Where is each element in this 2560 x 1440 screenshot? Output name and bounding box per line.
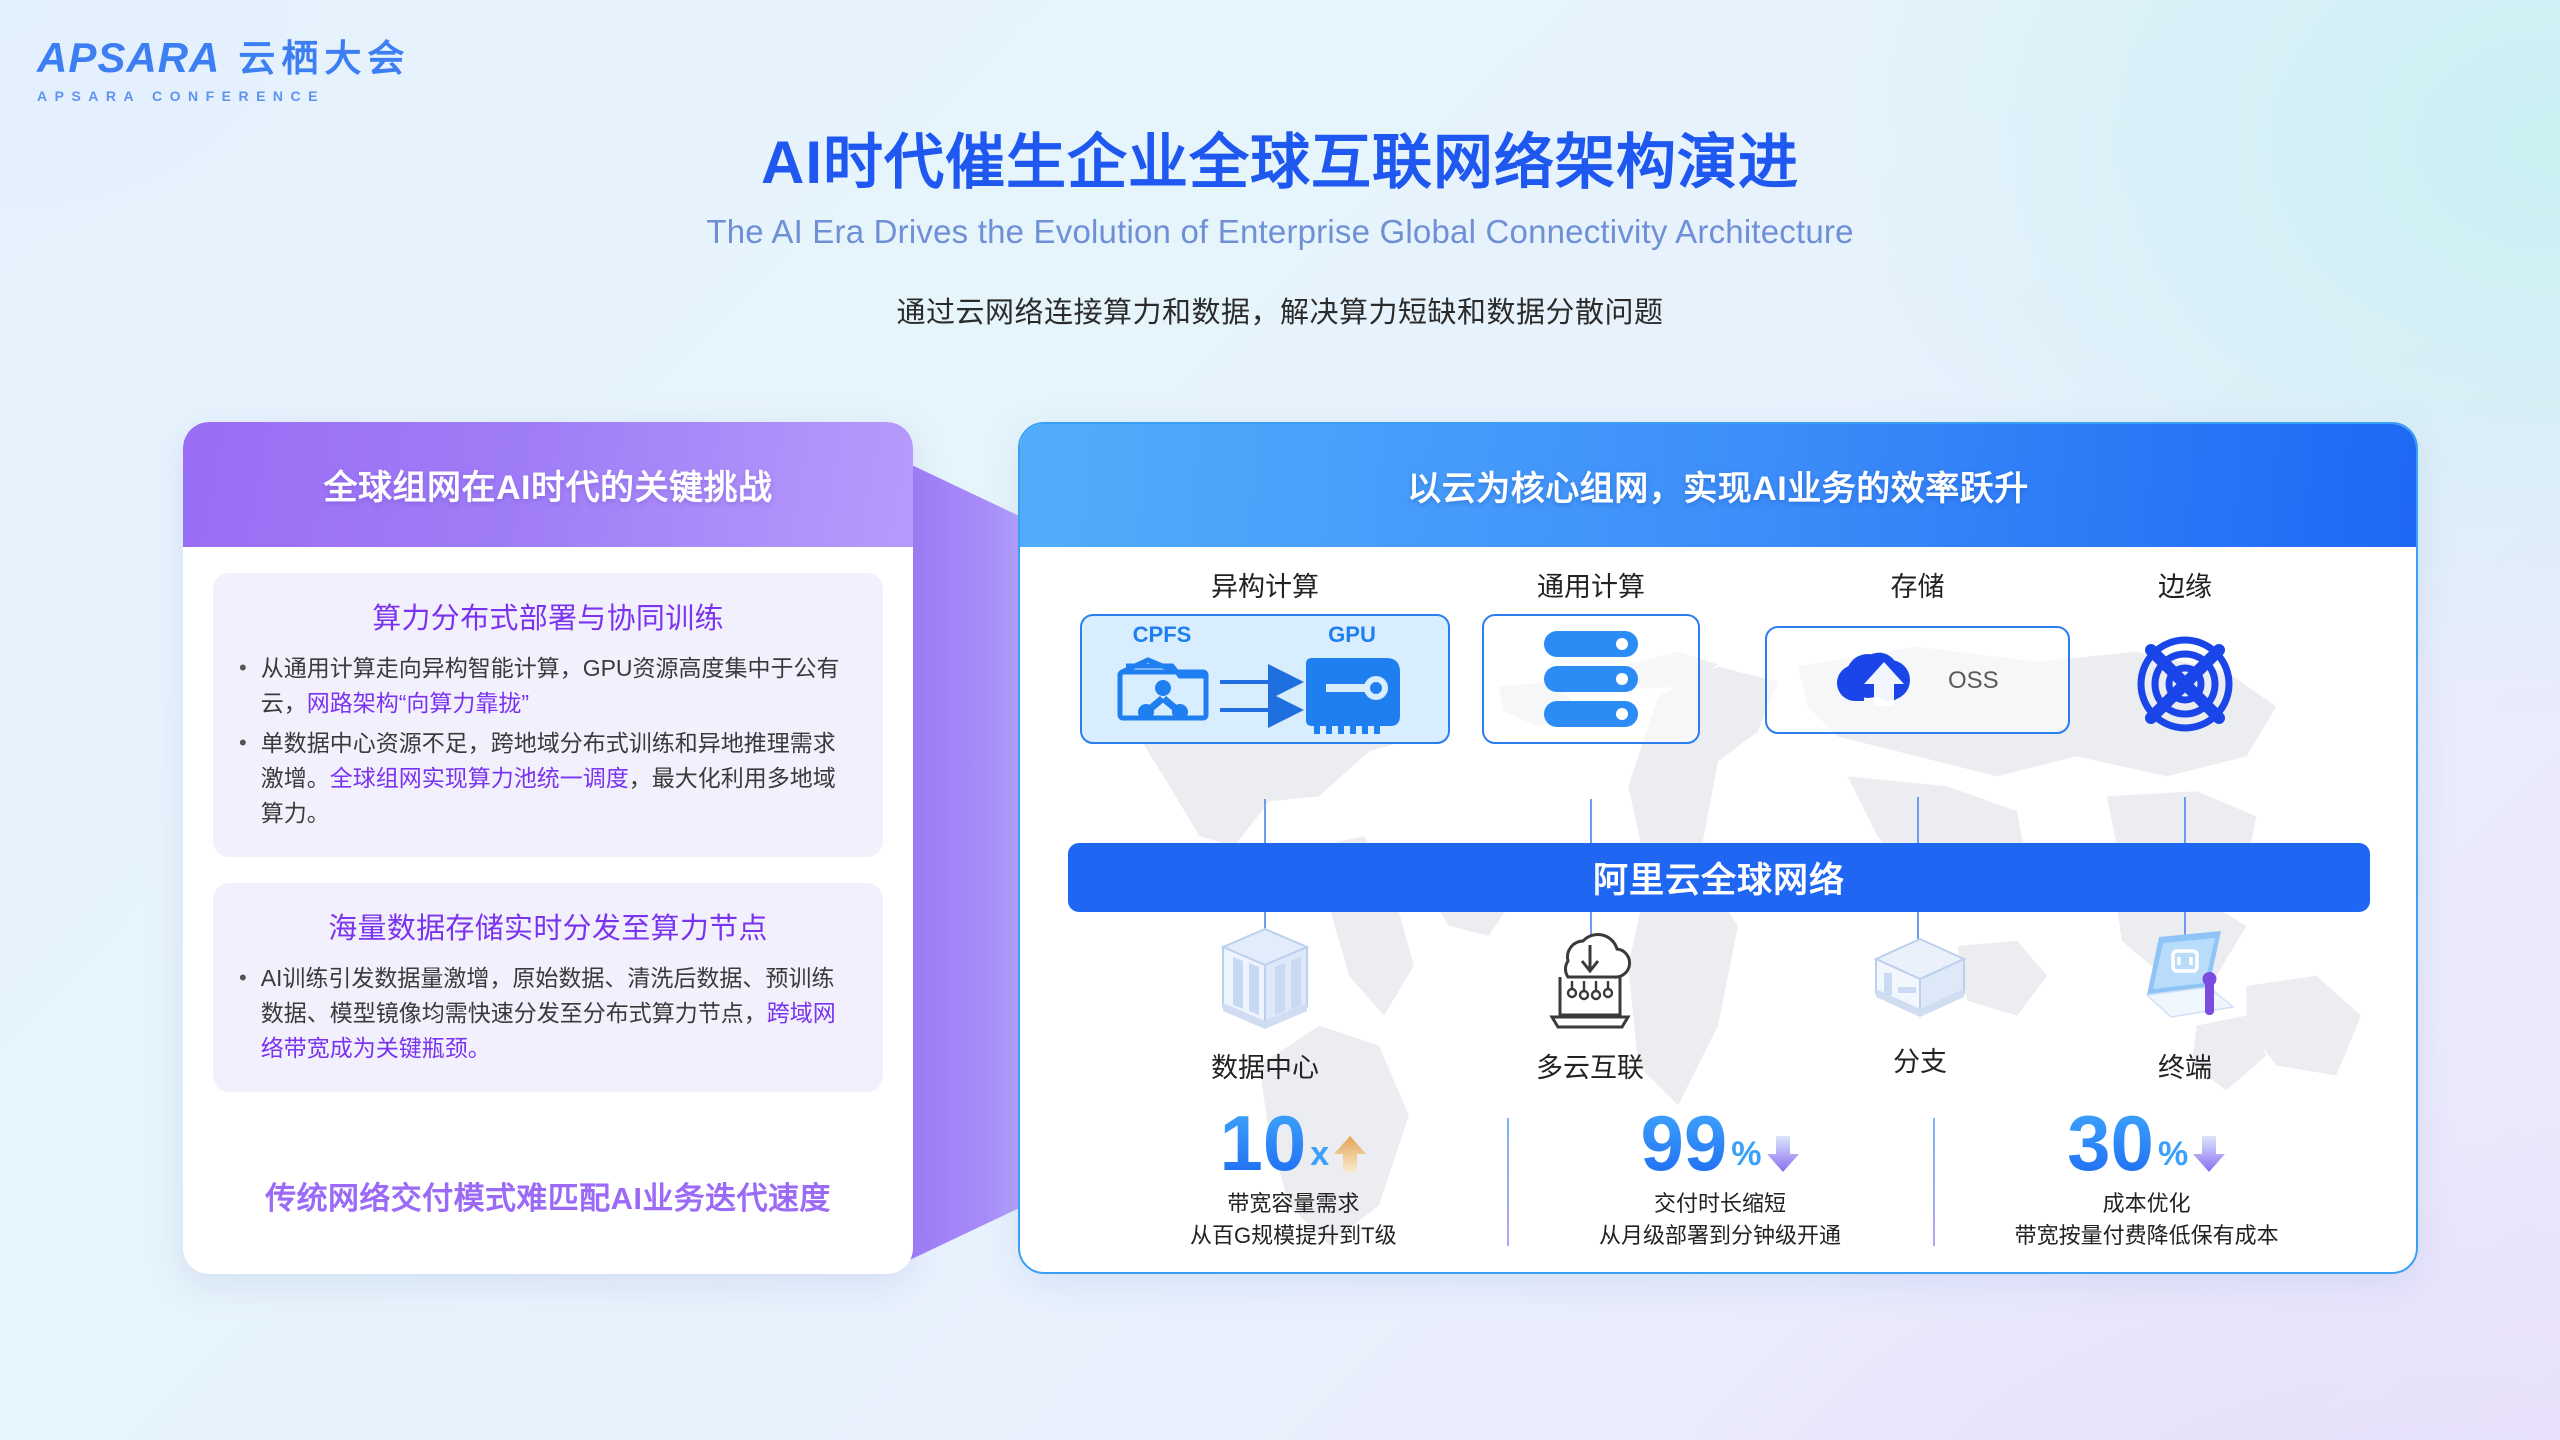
global-network-hub: 阿里云全球网络: [1068, 843, 2370, 912]
challenge-card-title: 海量数据存储实时分发至算力节点: [239, 905, 857, 947]
multicloud-icon: [1538, 925, 1642, 1035]
node-heterogeneous-compute: 异构计算 CPFS GPU: [1080, 565, 1450, 744]
solution-panel-title: 以云为核心组网，实现AI业务的效率跃升: [1407, 461, 2029, 510]
node-caption: 异构计算: [1080, 565, 1450, 604]
logo-brand-cn: 云栖大会: [238, 28, 410, 82]
node-general-compute: 通用计算: [1482, 565, 1700, 744]
hub-label: 阿里云全球网络: [1593, 852, 1845, 903]
page-subtitle: The AI Era Drives the Evolution of Enter…: [0, 213, 2560, 251]
node-storage: 存储 OSS: [1765, 565, 2070, 734]
stat-line1: 交付时长缩短: [1507, 1186, 1934, 1218]
stat-line1: 带宽容量需求: [1080, 1186, 1507, 1218]
edge-node-icon: [2129, 628, 2241, 740]
bullet-dot: •: [239, 961, 247, 1066]
datacenter-icon: [1217, 925, 1313, 1035]
svg-text:CPFS: CPFS: [1133, 622, 1192, 647]
challenges-panel-title: 全球组网在AI时代的关键挑战: [324, 460, 773, 509]
cpfs-gpu-icon: CPFS GPU: [1100, 620, 1430, 738]
stat-unit: x: [1310, 1135, 1329, 1180]
solution-panel: 以云为核心组网，实现AI业务的效率跃升: [1018, 422, 2418, 1274]
arrow-down-icon: [1766, 1134, 1800, 1174]
node-branch: 分支: [1820, 933, 2020, 1079]
node-caption: 多云互联: [1490, 1046, 1690, 1085]
challenges-panel: 全球组网在AI时代的关键挑战 算力分布式部署与协同训练 • 从通用计算走向异构智…: [183, 422, 913, 1274]
node-multicloud: 多云互联: [1490, 925, 1690, 1085]
arrow-up-icon: [1333, 1134, 1367, 1174]
stat-number: 10: [1219, 1108, 1306, 1180]
node-caption: 分支: [1820, 1040, 2020, 1079]
node-caption: 边缘: [2110, 565, 2260, 604]
stat-line2: 从月级部署到分钟级开通: [1507, 1218, 1934, 1250]
bullet-dot: •: [239, 651, 247, 721]
architecture-diagram: 异构计算 CPFS GPU: [1020, 547, 2416, 1274]
terminal-laptop-icon: [2129, 925, 2241, 1035]
logo-subtitle: APSARA CONFERENCE: [37, 88, 467, 104]
svg-text:OSS: OSS: [1948, 667, 1999, 694]
page-title: AI时代催生企业全球互联网络架构演进: [0, 128, 2560, 199]
branch-office-icon: [1868, 933, 1972, 1029]
stat-line1: 成本优化: [1933, 1186, 2360, 1218]
bullet-text: AI训练引发数据量激增，原始数据、清洗后数据、预训练数据、模型镜像均需快速分发至…: [261, 961, 857, 1066]
node-caption: 通用计算: [1482, 565, 1700, 604]
challenges-panel-header: 全球组网在AI时代的关键挑战: [183, 422, 913, 547]
challenge-bullet: • 从通用计算走向异构智能计算，GPU资源高度集中于公有云，网路架构“向算力靠拢…: [239, 651, 857, 721]
server-stack-icon: [1536, 627, 1646, 731]
bullet-text: 单数据中心资源不足，跨地域分布式训练和异地推理需求激增。全球组网实现算力池统一调…: [261, 726, 857, 831]
solution-panel-header: 以云为核心组网，实现AI业务的效率跃升: [1020, 424, 2416, 547]
logo-brand-en: APSARA: [37, 34, 220, 82]
bullet-dot: •: [239, 726, 247, 831]
oss-box: OSS: [1765, 626, 2070, 734]
stat-line2: 从百G规模提升到T级: [1080, 1218, 1507, 1250]
cpfs-gpu-box: CPFS GPU: [1080, 614, 1450, 744]
challenges-panel-footer: 传统网络交付模式难匹配AI业务迭代速度: [183, 1173, 913, 1218]
stat-item: 10 x 带宽容量需求 从百G规模提升到T级: [1080, 1108, 1507, 1258]
stat-number: 99: [1641, 1108, 1728, 1180]
node-caption: 数据中心: [1165, 1046, 1365, 1085]
slide-header: AI时代催生企业全球互联网络架构演进 The AI Era Drives the…: [0, 128, 2560, 331]
stat-item: 30 % 成本优化 带宽按量付费降低保有成本: [1933, 1108, 2360, 1258]
stat-unit: %: [1731, 1135, 1761, 1180]
svg-text:GPU: GPU: [1328, 622, 1376, 647]
arrow-down-icon: [2192, 1134, 2226, 1174]
stat-item: 99 % 交付时长缩短 从月级部署到分钟级开通: [1507, 1108, 1934, 1258]
node-terminal: 终端: [2085, 925, 2285, 1085]
node-datacenter: 数据中心: [1165, 925, 1365, 1085]
page-description: 通过云网络连接算力和数据，解决算力短缺和数据分散问题: [0, 289, 2560, 331]
bullet-text: 从通用计算走向异构智能计算，GPU资源高度集中于公有云，网路架构“向算力靠拢”: [261, 651, 857, 721]
challenge-bullet: • AI训练引发数据量激增，原始数据、清洗后数据、预训练数据、模型镜像均需快速分…: [239, 961, 857, 1066]
node-edge: 边缘: [2110, 565, 2260, 745]
challenge-card: 海量数据存储实时分发至算力节点 • AI训练引发数据量激增，原始数据、清洗后数据…: [213, 883, 883, 1092]
stat-unit: %: [2158, 1135, 2188, 1180]
challenge-card: 算力分布式部署与协同训练 • 从通用计算走向异构智能计算，GPU资源高度集中于公…: [213, 573, 883, 857]
challenge-card-title: 算力分布式部署与协同训练: [239, 595, 857, 637]
stat-line2: 带宽按量付费降低保有成本: [1933, 1218, 2360, 1250]
server-box: [1482, 614, 1700, 744]
oss-cloud-icon: OSS: [1818, 640, 2018, 720]
stats-row: 10 x 带宽容量需求 从百G规模提升到T级 99 %: [1080, 1108, 2360, 1258]
node-caption: 存储: [1765, 565, 2070, 604]
node-caption: 终端: [2085, 1046, 2285, 1085]
challenge-bullet: • 单数据中心资源不足，跨地域分布式训练和异地推理需求激增。全球组网实现算力池统…: [239, 726, 857, 831]
stat-number: 30: [2067, 1108, 2154, 1180]
apsara-logo: APSARA 云栖大会 APSARA CONFERENCE: [37, 28, 467, 104]
